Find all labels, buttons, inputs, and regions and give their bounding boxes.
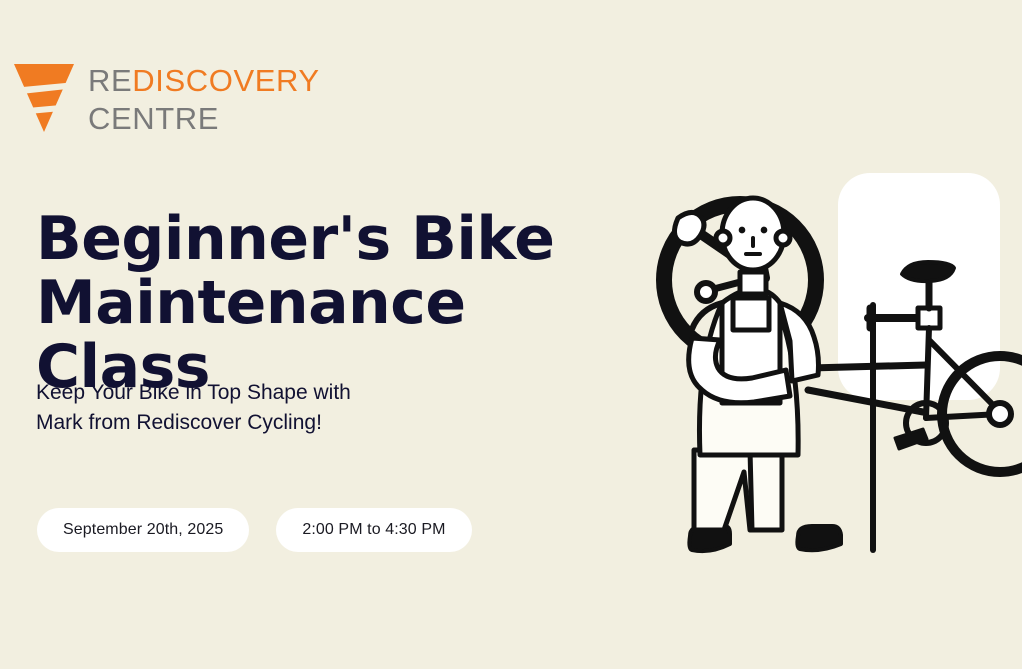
trousers [694, 450, 782, 530]
funnel-triangle-icon [12, 62, 76, 134]
neck [740, 272, 766, 294]
event-time-pill[interactable]: 2:00 PM to 4:30 PM [276, 508, 471, 552]
left-eye [739, 227, 744, 232]
bike-mechanic-illustration [630, 150, 1022, 570]
headline-line-1: Beginner's Bike [36, 207, 636, 271]
bike-mechanic-svg [630, 150, 1022, 570]
rear-hub [989, 403, 1011, 425]
rediscovery-centre-logo[interactable]: REDISCOVERY CENTRE [12, 62, 320, 134]
right-eye [761, 227, 766, 232]
logo-text-discovery: DISCOVERY [132, 63, 319, 98]
right-ear [776, 231, 790, 245]
left-ear [716, 231, 730, 245]
right-shoe [797, 526, 841, 550]
page-title: Beginner's Bike Maintenance Class [36, 207, 636, 400]
logo-text-re: RE [88, 63, 132, 98]
event-banner: REDISCOVERY CENTRE Beginner's Bike Maint… [0, 0, 1022, 669]
subtitle: Keep Your Bike in Top Shape with Mark fr… [36, 378, 556, 439]
subtitle-line-2: Mark from Rediscover Cycling! [36, 408, 556, 438]
hand [674, 212, 704, 244]
apron-pocket [733, 298, 769, 330]
logo-text-centre: CENTRE [88, 103, 320, 134]
logo-line-rediscovery: REDISCOVERY [88, 65, 320, 96]
subtitle-line-1: Keep Your Bike in Top Shape with [36, 378, 556, 408]
event-meta-pills: September 20th, 2025 2:00 PM to 4:30 PM [37, 508, 472, 552]
event-date-pill[interactable]: September 20th, 2025 [37, 508, 249, 552]
logo-wordmark: REDISCOVERY CENTRE [88, 62, 320, 134]
